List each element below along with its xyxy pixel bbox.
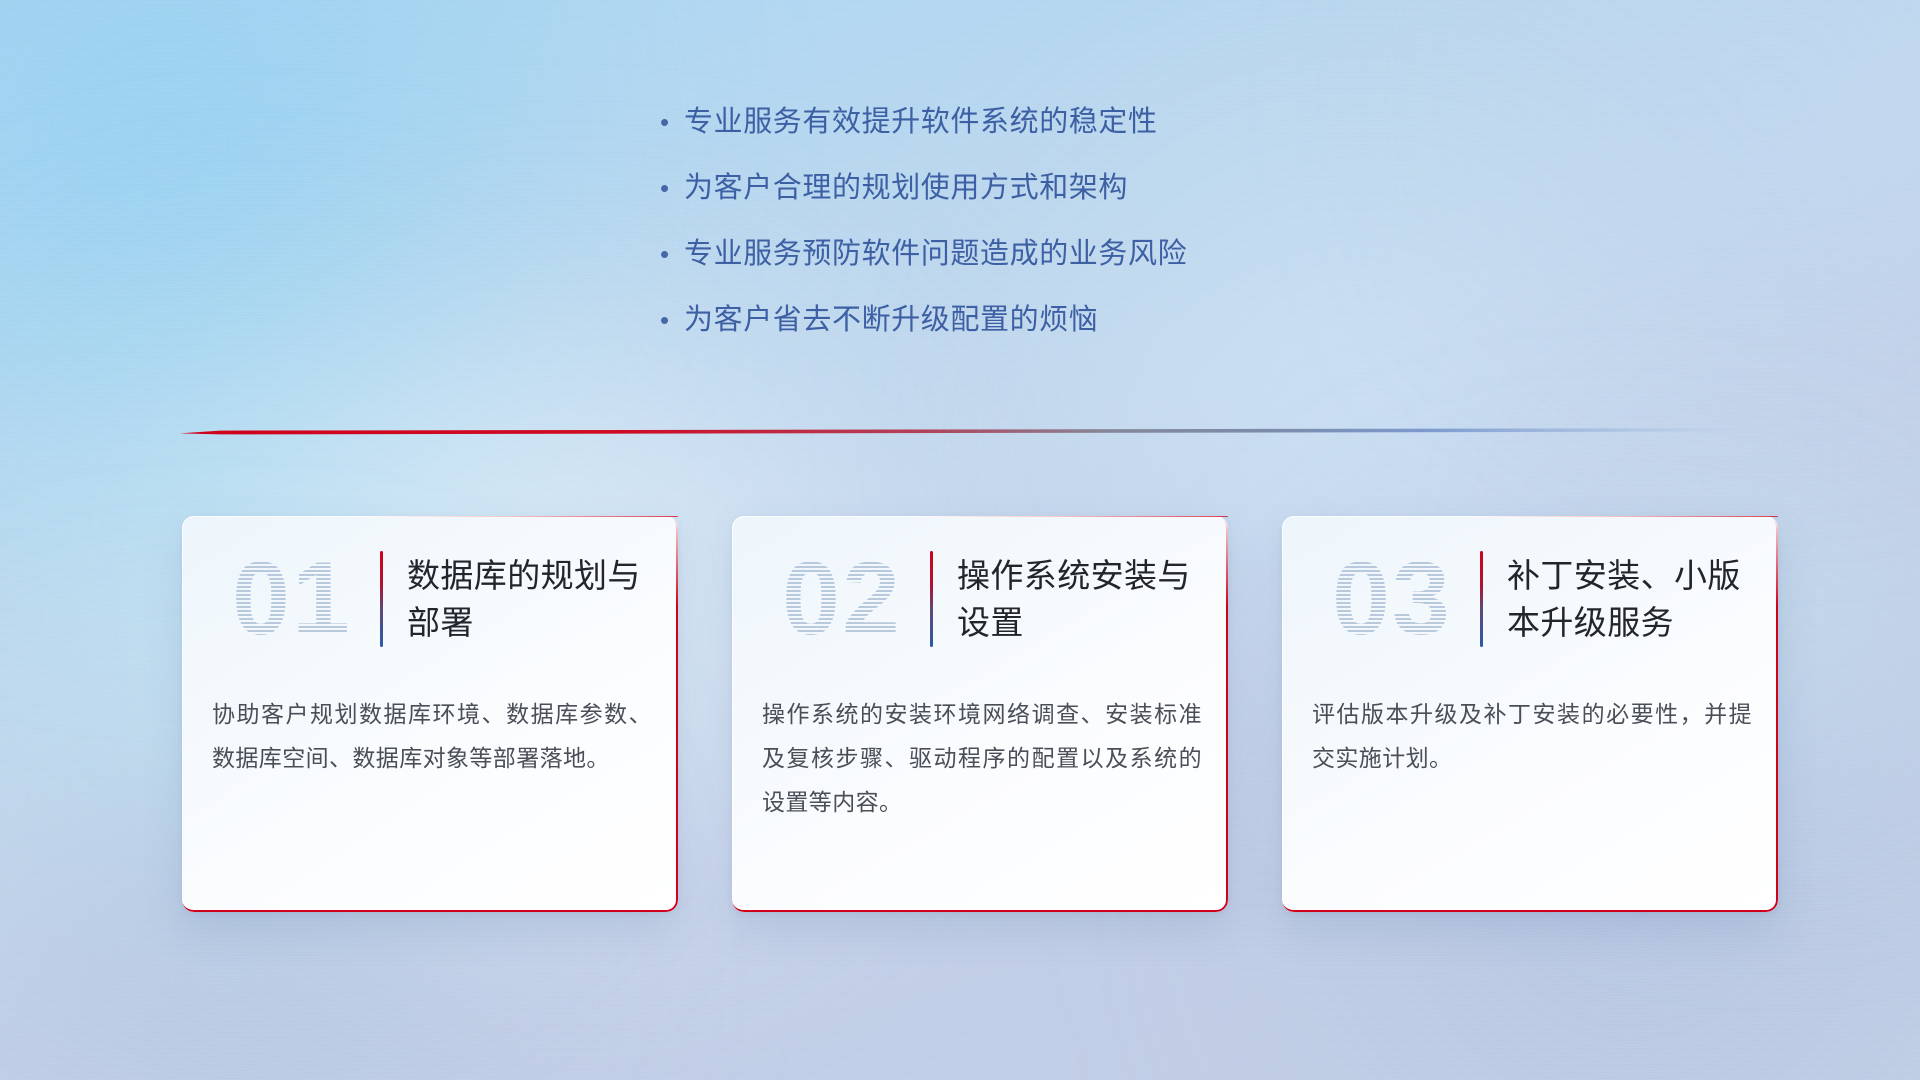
divider-shape [180,424,1735,442]
list-item: • 专业服务预防软件问题造成的业务风险 [660,234,1660,286]
card-description: 操作系统的安装环境网络调查、安装标准及复核步骤、驱动程序的配置以及系统的设置等内… [762,692,1202,824]
bullet-text: 专业服务预防软件问题造成的业务风险 [684,234,1187,274]
service-card-02[interactable]: 02 操作系统安装与设置 操作系统的安装环境网络调查、安装标准及复核步骤、驱动程… [732,516,1228,912]
service-card-01[interactable]: 01 数据库的规划与部署 协助客户规划数据库环境、数据库参数、数据库空间、数据库… [182,516,678,912]
card-title: 操作系统安装与设置 [957,552,1206,646]
service-card-row: 01 数据库的规划与部署 协助客户规划数据库环境、数据库参数、数据库空间、数据库… [182,516,1782,916]
card-header: 01 数据库的规划与部署 [182,534,656,664]
bullet-text: 专业服务有效提升软件系统的稳定性 [684,102,1158,142]
card-header: 02 操作系统安装与设置 [732,534,1206,664]
card-divider-rule [380,551,383,647]
card-description: 评估版本升级及补丁安装的必要性，并提交实施计划。 [1312,692,1752,780]
card-number-watermark: 01 [204,534,380,664]
card-title: 补丁安装、小版本升级服务 [1507,552,1756,646]
card-divider-rule [930,551,933,647]
service-card-03[interactable]: 03 补丁安装、小版本升级服务 评估版本升级及补丁安装的必要性，并提交实施计划。 [1282,516,1778,912]
bullet-dot-icon: • [660,300,684,340]
list-item: • 专业服务有效提升软件系统的稳定性 [660,102,1660,154]
card-description: 协助客户规划数据库环境、数据库参数、数据库空间、数据库对象等部署落地。 [212,692,652,780]
card-header: 03 补丁安装、小版本升级服务 [1282,534,1756,664]
bullet-dot-icon: • [660,102,684,142]
card-number-watermark: 03 [1304,534,1480,664]
bullet-text: 为客户合理的规划使用方式和架构 [684,168,1128,208]
bullet-text: 为客户省去不断升级配置的烦恼 [684,300,1098,340]
card-top-hairline [1461,516,1778,517]
benefits-bullet-list: • 专业服务有效提升软件系统的稳定性 • 为客户合理的规划使用方式和架构 • 专… [660,102,1660,366]
card-number-watermark: 02 [754,534,930,664]
card-title: 数据库的规划与部署 [407,552,656,646]
list-item: • 为客户合理的规划使用方式和架构 [660,168,1660,220]
card-divider-rule [1480,551,1483,647]
card-top-hairline [911,516,1228,517]
bullet-dot-icon: • [660,234,684,274]
list-item: • 为客户省去不断升级配置的烦恼 [660,300,1660,352]
card-top-hairline [361,516,678,517]
slide-canvas: • 专业服务有效提升软件系统的稳定性 • 为客户合理的规划使用方式和架构 • 专… [0,0,1920,1080]
bullet-dot-icon: • [660,168,684,208]
section-divider [180,424,1735,442]
